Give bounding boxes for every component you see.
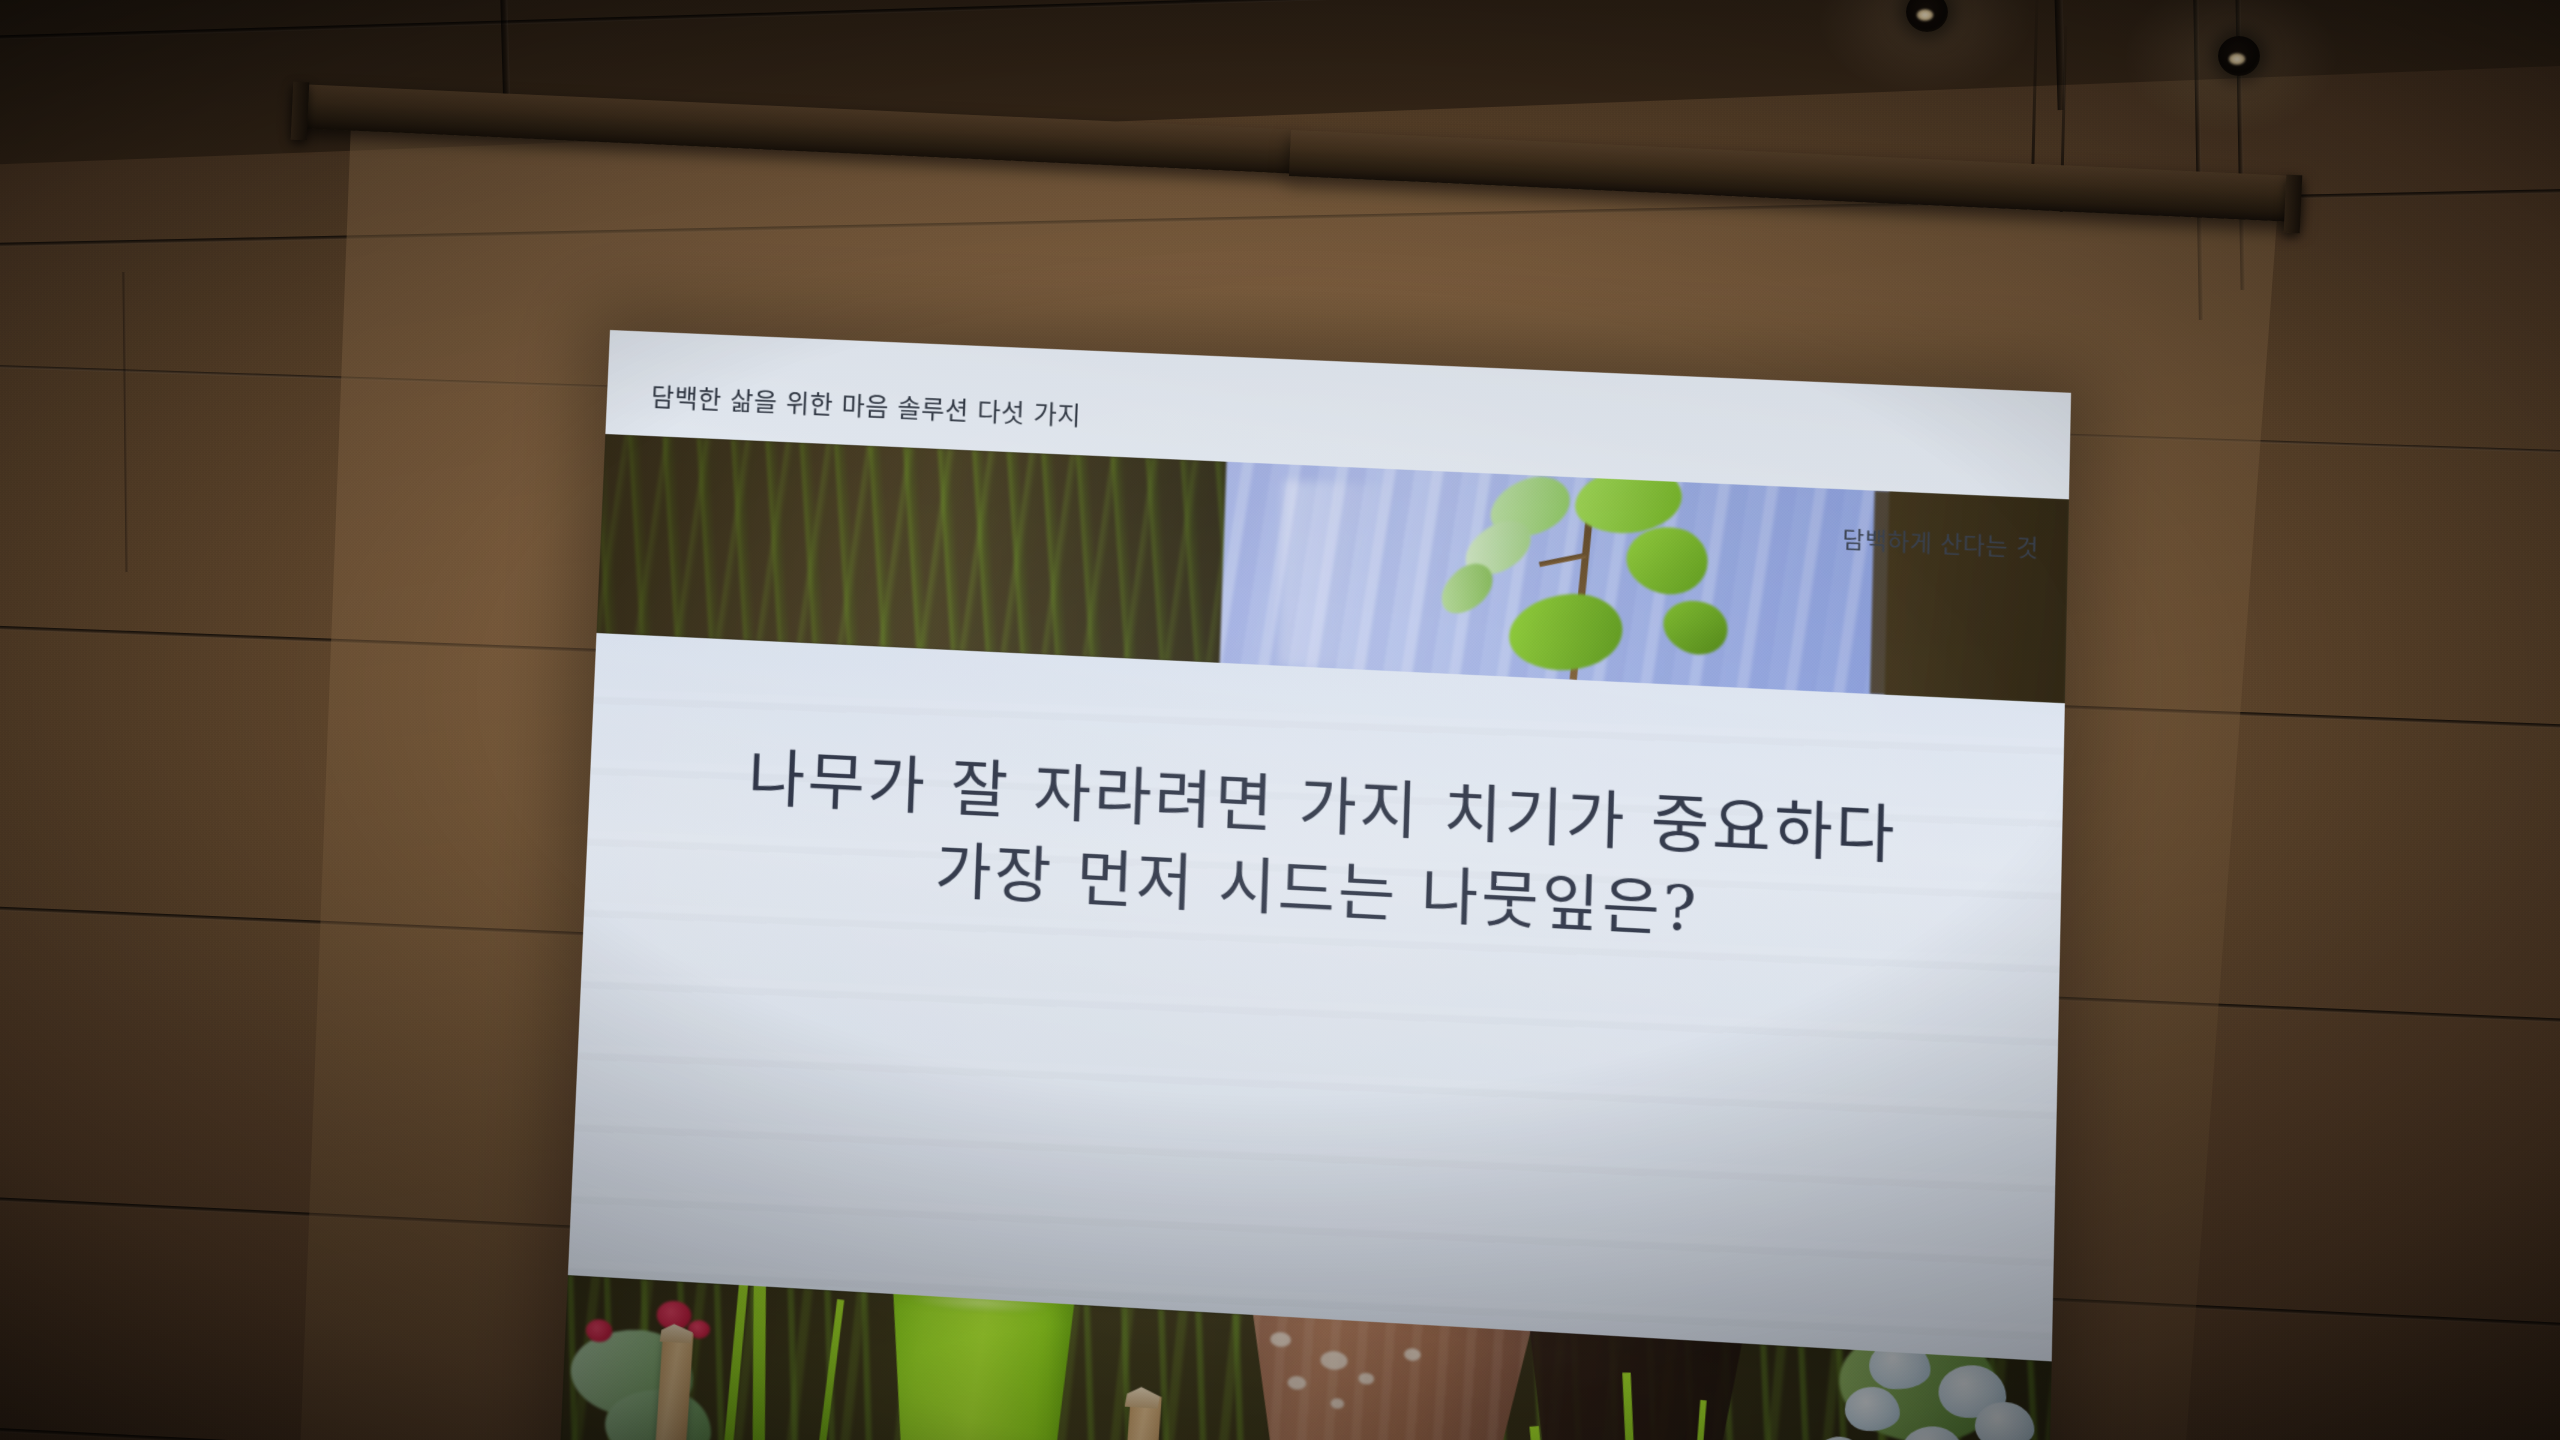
- photo-shadow-overlay: [597, 434, 1271, 665]
- slide-title-block: 나무가 잘 자라려면 가지 치기가 중요하다 가장 먼저 시드는 나뭇잎은?: [585, 730, 2063, 971]
- roller-end-cap: [2284, 175, 2303, 234]
- photo-sleeve-highlight: [1278, 480, 1416, 672]
- roller-end-cap: [291, 82, 310, 141]
- presentation-slide[interactable]: 담백한 삶을 위한 마음 솔루션 다섯 가지: [559, 330, 2071, 1440]
- slide-header-left-title: 담백한 삶을 위한 마음 솔루션 다섯 가지: [650, 378, 1081, 433]
- room-scene: 담백한 삶을 위한 마음 솔루션 다섯 가지: [0, 0, 2560, 1440]
- recessed-spotlight-icon: [2218, 36, 2260, 76]
- slide-body: 담백하게 산다는 것 나무가 잘 자라려면 가지 치기가 중요하다 가장 먼저 …: [568, 633, 2065, 1361]
